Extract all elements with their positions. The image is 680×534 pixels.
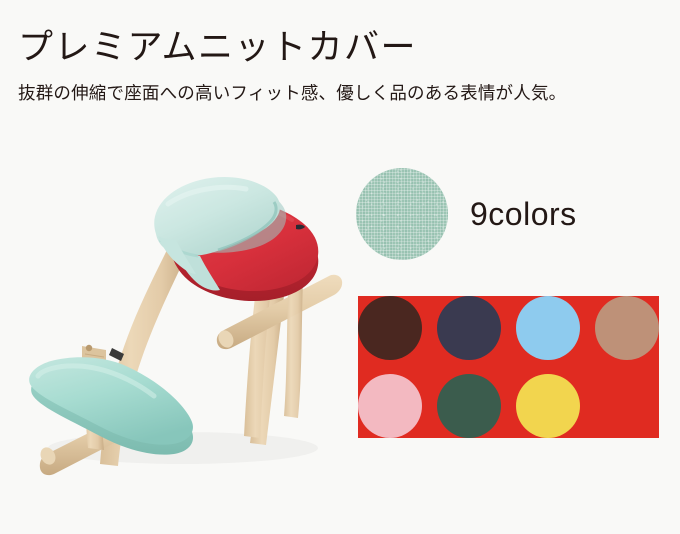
header: プレミアムニットカバー 抜群の伸縮で座面への高いフィット感、優しく品のある表情が…: [18, 26, 662, 106]
color-options-panel: 9colors: [356, 168, 666, 468]
color-swatch-red[interactable]: [358, 296, 422, 360]
page-title: プレミアムニットカバー: [18, 26, 662, 70]
fabric-weave-highlights: [356, 168, 448, 260]
colors-count-label: 9colors: [470, 198, 577, 230]
color-swatch-pink[interactable]: [437, 374, 501, 438]
promo-banner: プレミアムニットカバー 抜群の伸縮で座面への高いフィット感、優しく品のある表情が…: [0, 0, 680, 534]
kneeling-chair-illustration: [8, 148, 356, 478]
color-swatch-navy[interactable]: [516, 296, 580, 360]
fabric-swatch-mint-knit[interactable]: [356, 168, 448, 260]
color-swatch-yellow[interactable]: [595, 374, 659, 438]
color-swatch-grid: [358, 296, 659, 438]
color-swatch-dark-green[interactable]: [516, 374, 580, 438]
color-swatch-light-blue[interactable]: [595, 296, 659, 360]
product-image-kneeling-chair: [8, 148, 356, 478]
fabric-swatch-row: 9colors: [356, 168, 577, 260]
page-subtitle: 抜群の伸縮で座面への高いフィット感、優しく品のある表情が人気。: [18, 80, 662, 106]
color-swatch-dark-brown[interactable]: [437, 296, 501, 360]
color-swatch-beige[interactable]: [358, 374, 422, 438]
